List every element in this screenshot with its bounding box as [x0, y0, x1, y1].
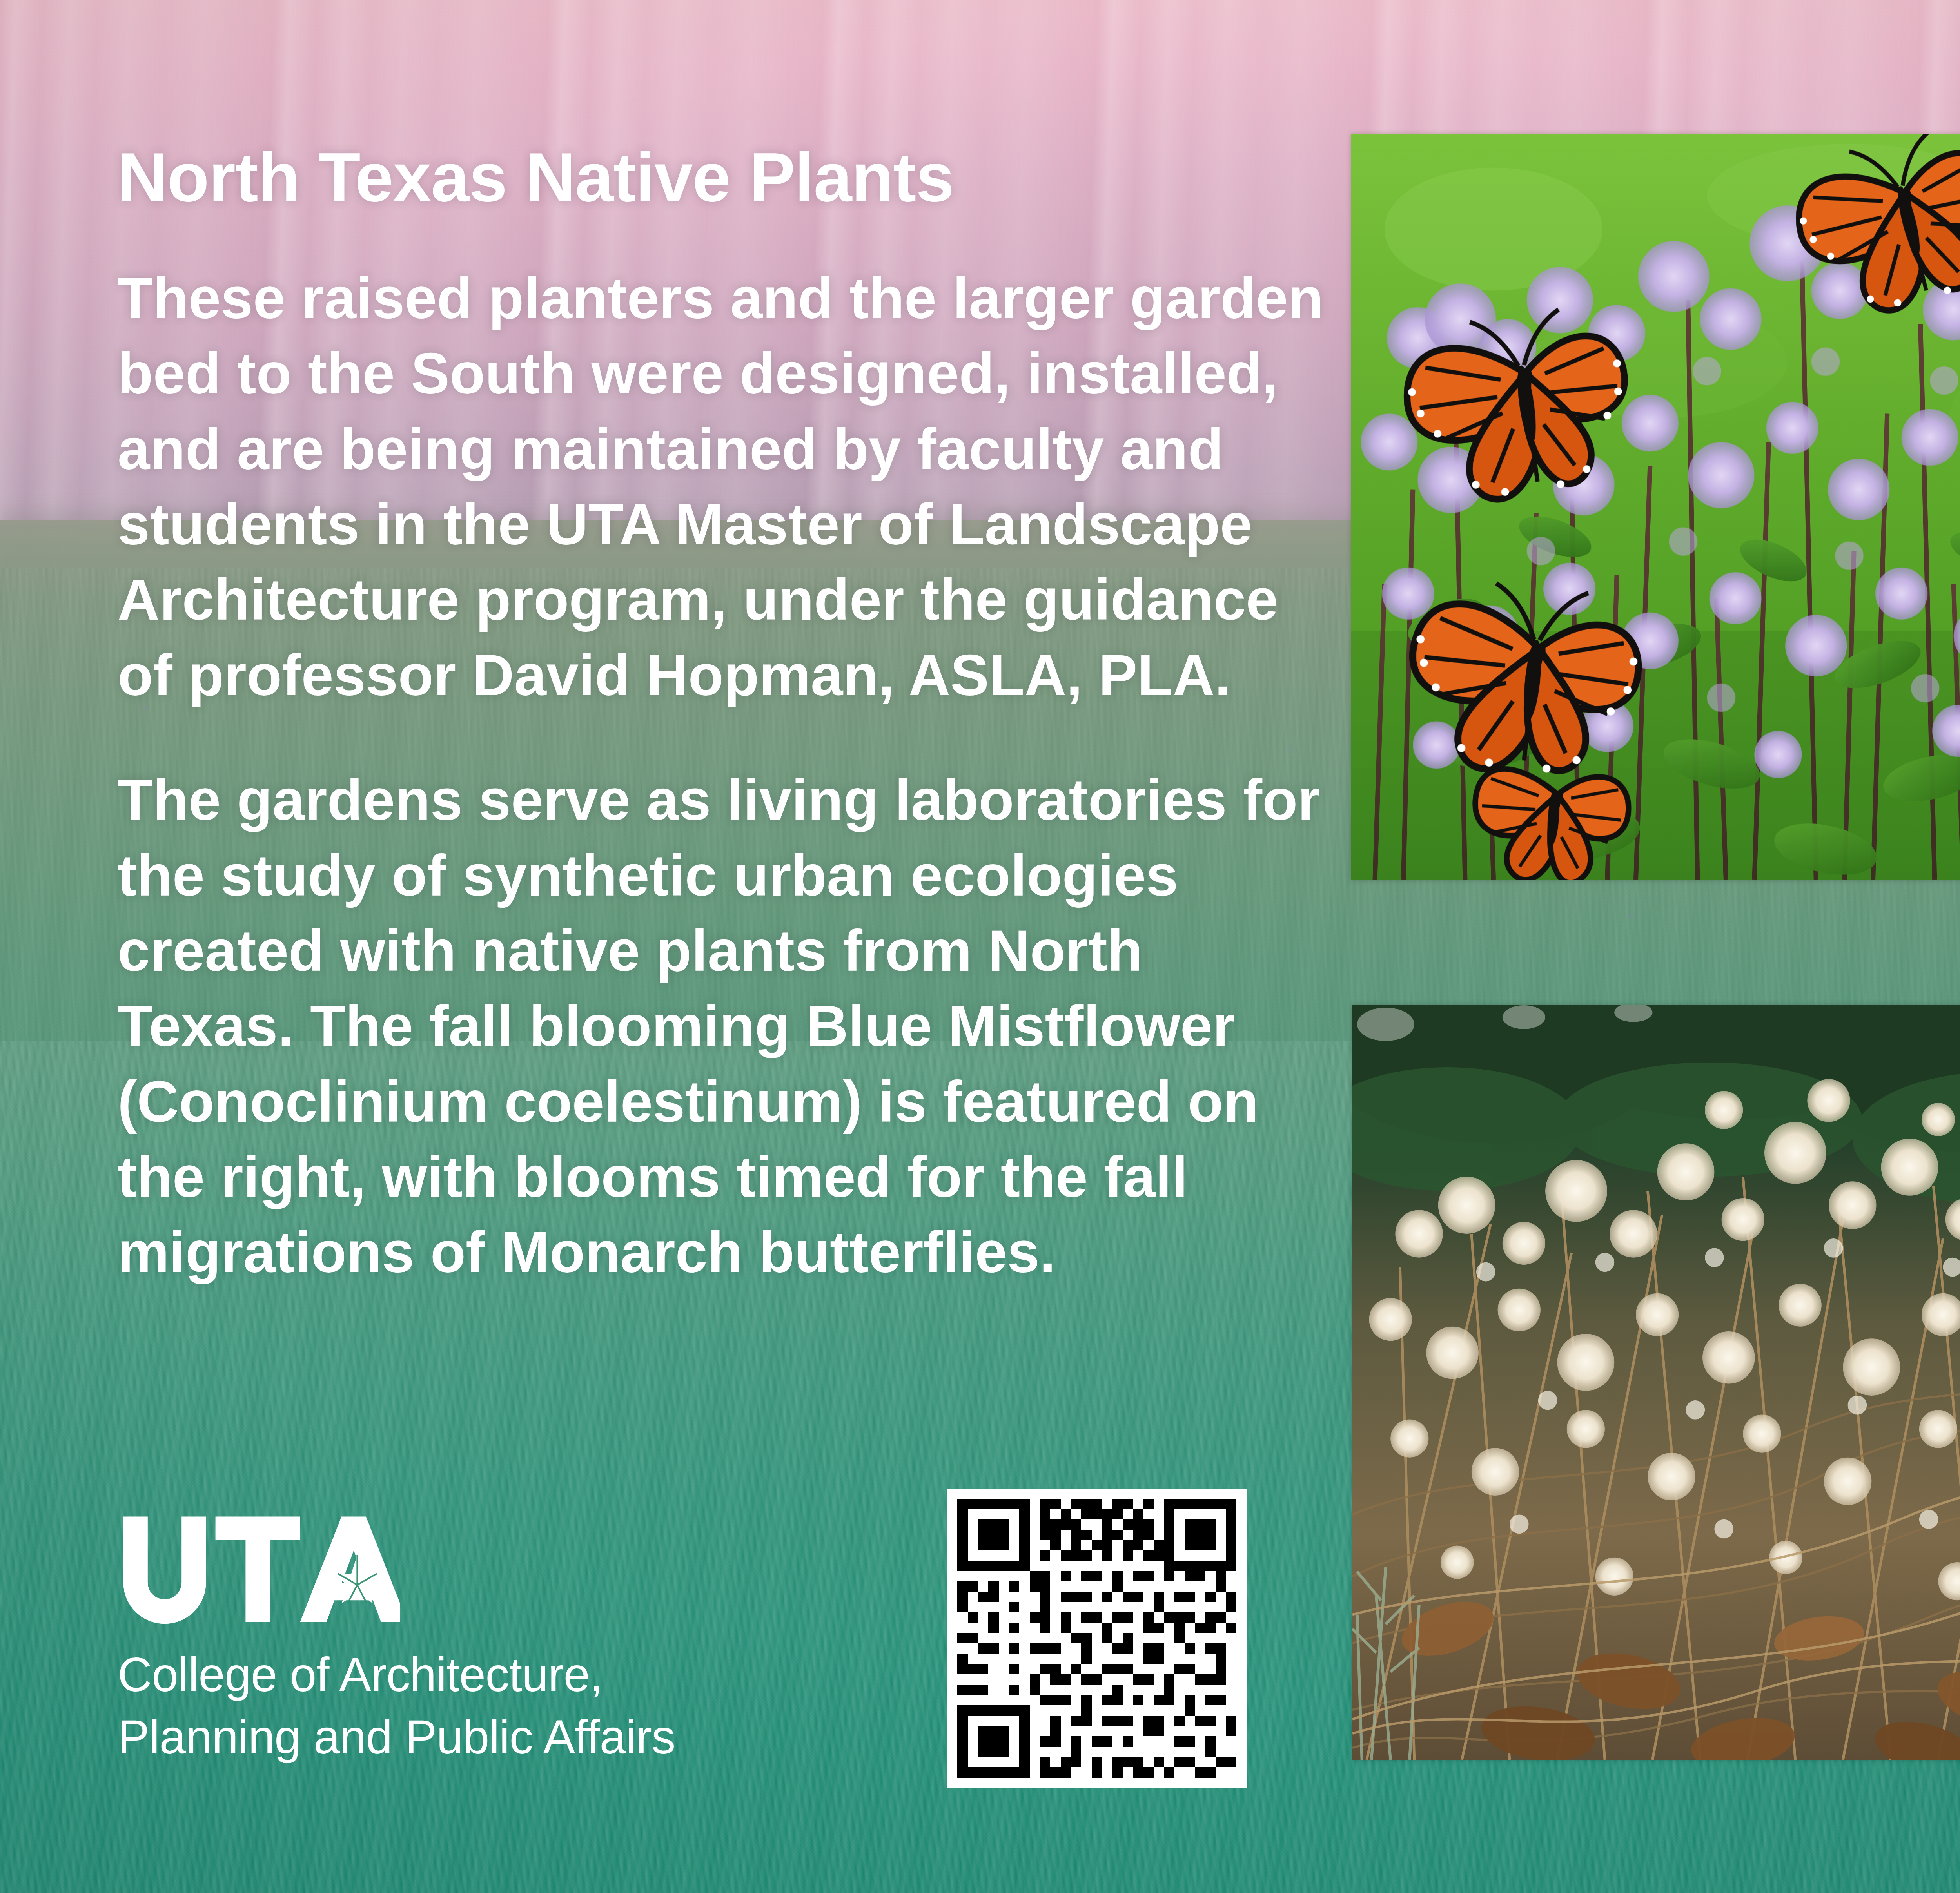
- college-name: College of Architecture, Planning and Pu…: [118, 1644, 902, 1768]
- body-paragraph-1: These raised planters and the larger gar…: [118, 261, 1333, 713]
- interpretive-sign-panel: North Texas Native Plants These raised p…: [0, 0, 1960, 1893]
- photo-monarchs-image: [1351, 134, 1960, 880]
- body-paragraph-2: The gardens serve as living laboratories…: [118, 762, 1333, 1290]
- photo-mistflower-seedheads: [1352, 1005, 1960, 1760]
- uta-star-logo: [118, 1513, 400, 1626]
- qr-code-icon: [947, 1489, 1247, 1788]
- text-column: North Texas Native Plants These raised p…: [118, 141, 1333, 1340]
- uta-logo-block: College of Architecture, Planning and Pu…: [118, 1513, 902, 1768]
- photo-seedheads-image: [1352, 1005, 1960, 1760]
- qr-code[interactable]: [947, 1489, 1247, 1788]
- page-title: North Texas Native Plants: [118, 141, 1333, 214]
- photo-monarchs-on-blue-mistflower: [1351, 134, 1960, 880]
